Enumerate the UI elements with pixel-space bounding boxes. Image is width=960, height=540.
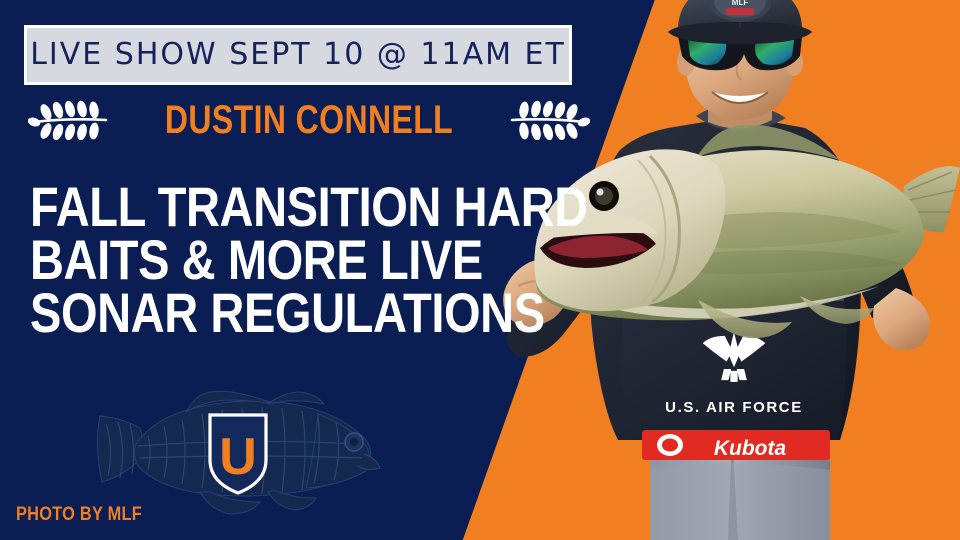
- promo-graphic: U.S. AIR FORCE Kubota FERGUSON MARINE MA…: [0, 0, 960, 540]
- headline-line-2: BAITS & MORE LIVE: [30, 233, 475, 286]
- angler-head: MLF: [668, 0, 812, 129]
- svg-text:Kubota: Kubota: [714, 437, 787, 460]
- photo-credit: PHOTO BY MLF: [16, 504, 142, 526]
- shield-badge-icon: U: [207, 412, 269, 496]
- presenter-name-row: DUSTIN CONNELL: [0, 96, 590, 144]
- live-show-banner: LIVE SHOW SEPT 10 @ 11AM ET: [24, 25, 572, 85]
- shield-badge-letter: U: [219, 428, 257, 486]
- baseball-cap-icon: MLF: [668, 0, 812, 44]
- headline-line-1: FALL TRANSITION HARD: [30, 180, 475, 233]
- laurel-sprig-icon: [28, 100, 112, 140]
- laurel-sprig-icon: [506, 100, 590, 140]
- headline-line-3: SONAR REGULATIONS: [30, 286, 475, 339]
- svg-text:MLF: MLF: [732, 0, 749, 7]
- svg-text:U.S. AIR FORCE: U.S. AIR FORCE: [665, 399, 803, 416]
- live-show-banner-text: LIVE SHOW SEPT 10 @ 11AM ET: [30, 40, 566, 70]
- headline: FALL TRANSITION HARD BAITS & MORE LIVE S…: [30, 180, 560, 339]
- presenter-name: DUSTIN CONNELL: [151, 100, 466, 140]
